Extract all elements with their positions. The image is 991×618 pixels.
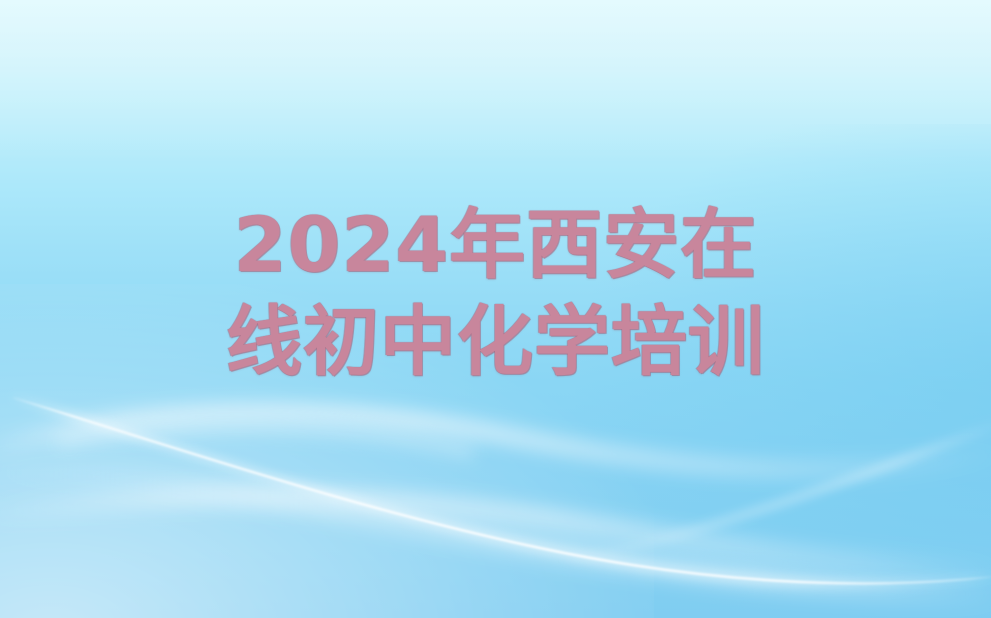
headline-line-1: 2024年西安在 [234, 196, 758, 293]
promo-banner: 2024年西安在 线初中化学培训 [0, 0, 991, 618]
headline-line-2: 线初中化学培训 [226, 293, 765, 390]
headline: 2024年西安在 线初中化学培训 [0, 196, 991, 390]
